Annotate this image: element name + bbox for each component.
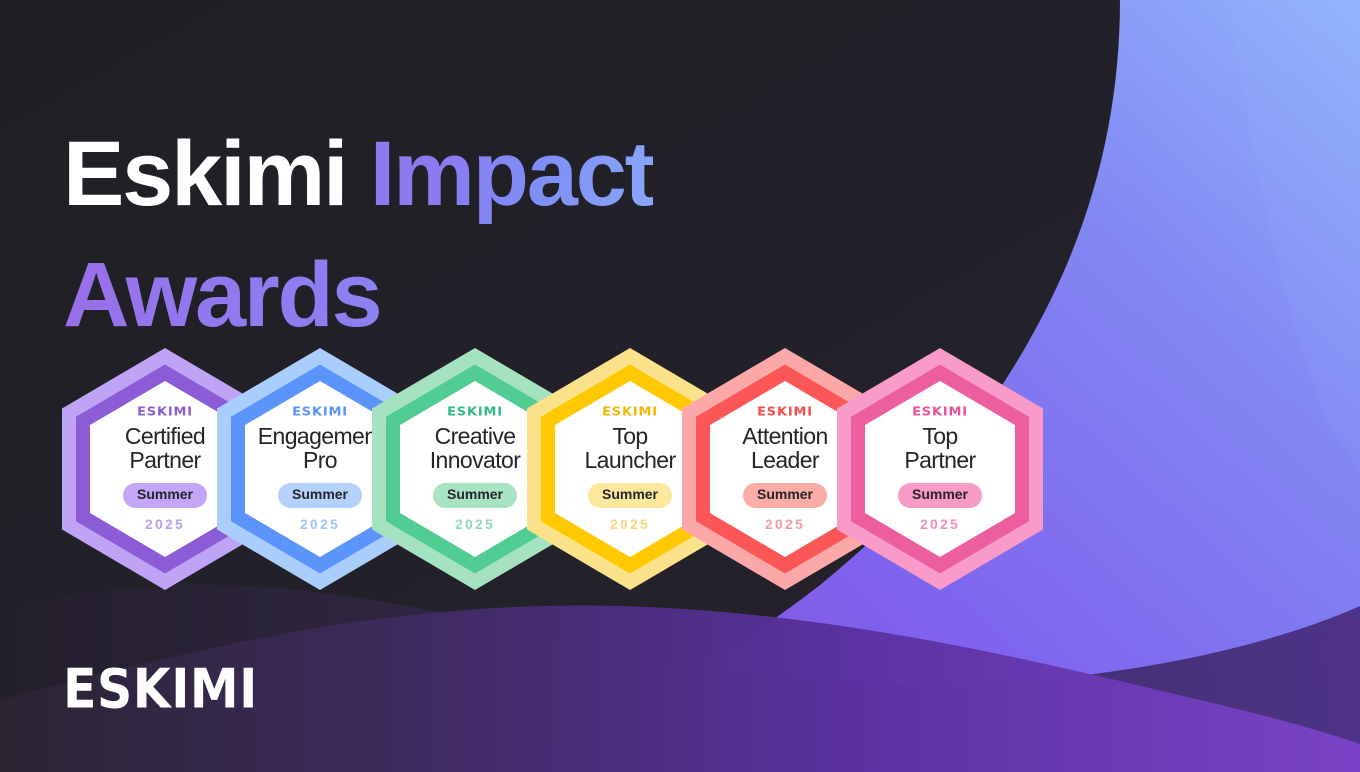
- badge-eskimi-wordmark-icon: ESKIMI: [602, 407, 658, 419]
- badge-title: CreativeInnovator: [430, 425, 521, 472]
- badge-year: 2025: [610, 516, 650, 532]
- badge-year: 2025: [920, 516, 960, 532]
- badge-title: TopLauncher: [584, 425, 675, 472]
- badge-title-line2: Pro: [258, 449, 382, 472]
- badge-eskimi-wordmark-icon: ESKIMI: [912, 407, 968, 419]
- badge-title-line1: Engagement: [258, 423, 382, 449]
- title-accent: Impact: [370, 123, 653, 225]
- badge-title-line2: Partner: [125, 449, 205, 472]
- badge-eskimi-wordmark-icon: ESKIMI: [137, 407, 193, 419]
- badge-top-partner[interactable]: ESKIMITopPartnerSummer2025: [837, 348, 1043, 590]
- badge-row: ESKIMICertifiedPartnerSummer2025ESKIMIEn…: [0, 348, 1360, 598]
- poster-canvas: <"/>: [0, 0, 1360, 772]
- badge-title-line2: Partner: [904, 449, 975, 472]
- badge-eskimi-wordmark-icon: ESKIMI: [292, 407, 348, 419]
- badge-season-pill: Summer: [898, 483, 982, 507]
- badge-year: 2025: [300, 516, 340, 532]
- badge-title-line1: Top: [922, 423, 957, 449]
- badge-title-line1: Attention: [742, 423, 827, 449]
- badge-title-line2: Leader: [742, 449, 827, 472]
- badge-season-pill: Summer: [123, 483, 207, 507]
- badge-season-pill: Summer: [588, 483, 672, 507]
- badge-content: ESKIMITopPartnerSummer2025: [865, 381, 1015, 557]
- eskimi-logo: ESKIMI: [63, 658, 258, 721]
- badge-season-pill: Summer: [433, 483, 517, 507]
- badge-title-line1: Creative: [435, 423, 516, 449]
- badge-eskimi-wordmark-icon: ESKIMI: [757, 407, 813, 419]
- badge-title: TopPartner: [904, 425, 975, 472]
- badge-year: 2025: [145, 516, 185, 532]
- badge-season-pill: Summer: [743, 483, 827, 507]
- badge-title: AttentionLeader: [742, 425, 827, 472]
- badge-title-line1: Top: [612, 423, 647, 449]
- badge-year: 2025: [455, 516, 495, 532]
- badge-title: CertifiedPartner: [125, 425, 205, 472]
- badge-title-line2: Launcher: [584, 449, 675, 472]
- badge-title: EngagementPro: [258, 425, 382, 472]
- badge-title-line2: Innovator: [430, 449, 521, 472]
- badge-eskimi-wordmark-icon: ESKIMI: [447, 407, 503, 419]
- title-line2: Awards: [63, 235, 653, 356]
- page-title: Eskimi Impact Awards: [63, 114, 653, 357]
- badge-title-line1: Certified: [125, 423, 205, 449]
- badge-year: 2025: [765, 516, 805, 532]
- title-brand: Eskimi: [63, 123, 370, 225]
- badge-season-pill: Summer: [278, 483, 362, 507]
